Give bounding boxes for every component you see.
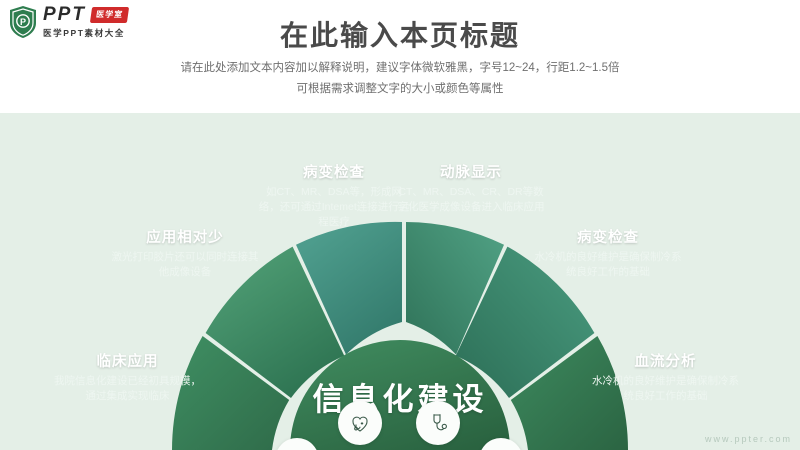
watermark: www.ppter.com xyxy=(705,434,792,444)
page-subtitle: 请在此处添加文本内容加以解释说明，建议字体微软雅黑，字号12~24，行距1.2~… xyxy=(0,58,800,101)
radial-diagram: 应用相对少 激光打印胶片还可以同时连接其他成像设备 病变检查 如CT、MR、DS… xyxy=(0,113,800,450)
heart-stethoscope-icon[interactable] xyxy=(338,401,382,445)
subtitle-line-2: 可根据需求调整文字的大小或颜色等属性 xyxy=(0,79,800,100)
page-title: 在此输入本页标题 xyxy=(0,14,800,54)
subtitle-line-1: 请在此处添加文本内容加以解释说明，建议字体微软雅黑，字号12~24，行距1.2~… xyxy=(0,58,800,79)
header-area: P PPT 医学室 医学PPT素材大全 在此输入本页标题 请在此处添加文本内容加… xyxy=(0,0,800,113)
center-label: 信息化建设 xyxy=(240,374,560,419)
stethoscope-icon[interactable] xyxy=(416,401,460,445)
